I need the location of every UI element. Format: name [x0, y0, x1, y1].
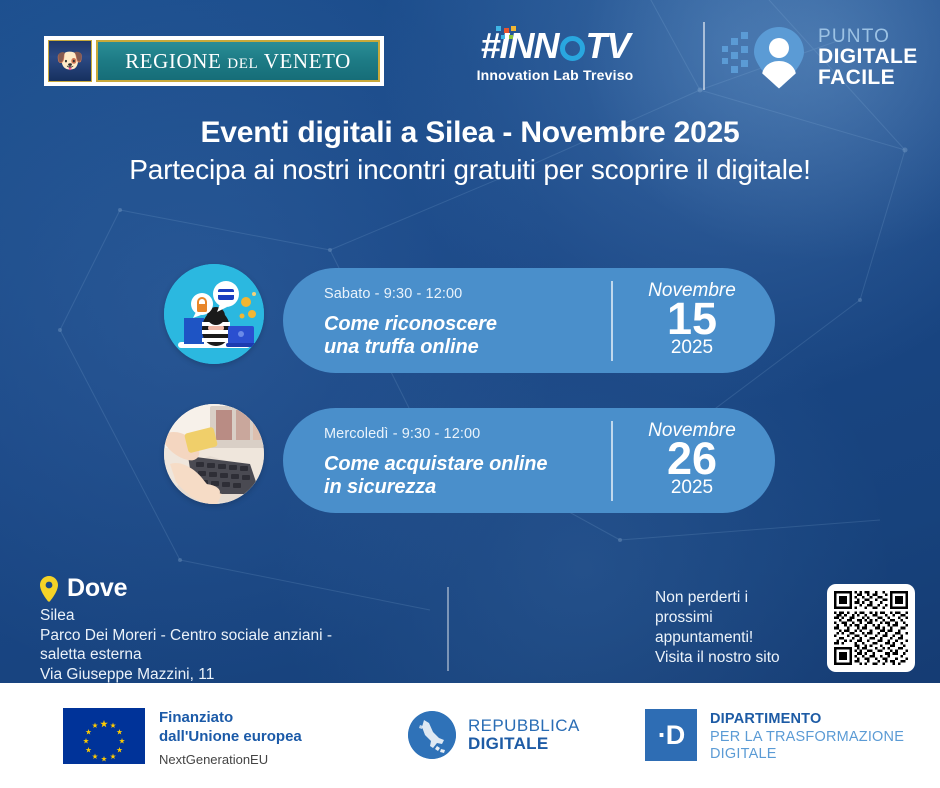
- pdf-line-digitale: DIGITALE: [818, 46, 918, 67]
- dtd-line-2: PER LA TRASFORMAZIONE: [710, 729, 904, 747]
- event-date: Novembre 26 2025: [611, 421, 753, 501]
- location-title: Dove: [67, 574, 127, 603]
- veneto-word-regione: REGIONE: [125, 49, 221, 73]
- qr-code-matrix: [834, 591, 908, 665]
- events-list: Sabato - 9:30 - 12:00 Come riconoscere u…: [0, 263, 940, 528]
- dtd-text: DIPARTIMENTO PER LA TRASFORMAZIONE DIGIT…: [710, 709, 904, 764]
- cta-line: Non perderti i: [655, 588, 805, 608]
- logo-eu-funded: Finanziato dall'Unione europea NextGener…: [63, 708, 302, 768]
- eu-line-3: NextGenerationEU: [159, 751, 302, 769]
- cta-line: appuntamenti!: [655, 628, 805, 648]
- veneto-word-veneto: VENETO: [264, 49, 351, 73]
- pdf-line-punto: PUNTO: [818, 27, 918, 46]
- event-row[interactable]: Sabato - 9:30 - 12:00 Come riconoscere u…: [0, 263, 940, 388]
- event-title-line2: una truffa online: [324, 336, 639, 359]
- location-line: Via Giuseppe Mazzini, 11: [40, 665, 430, 685]
- location-line: Parco Dei Moreri - Centro sociale anzian…: [40, 626, 430, 646]
- repubblica-line-2: DIGITALE: [468, 735, 580, 753]
- veneto-wordmark: REGIONE DEL VENETO: [125, 49, 351, 74]
- cta-block[interactable]: Non perderti i prossimi appuntamenti! Vi…: [655, 584, 915, 672]
- footer-logos: Finanziato dall'Unione europea NextGener…: [0, 683, 940, 788]
- event-date-day: 15: [631, 298, 753, 341]
- punto-digitale-text: PUNTO DIGITALE FACILE: [818, 27, 918, 88]
- event-title-line1: Come acquistare online: [324, 453, 639, 476]
- event-card[interactable]: Mercoledì - 9:30 - 12:00 Come acquistare…: [283, 408, 775, 513]
- event-card[interactable]: Sabato - 9:30 - 12:00 Come riconoscere u…: [283, 268, 775, 373]
- cta-line: prossimi: [655, 608, 805, 628]
- map-pin-icon: [40, 576, 58, 602]
- logo-punto-digitale-facile: PUNTO DIGITALE FACILE: [722, 24, 918, 90]
- dtd-line-3: DIGITALE: [710, 746, 904, 764]
- qr-code-icon[interactable]: [827, 584, 915, 672]
- digital-person-pin-icon: [722, 24, 808, 90]
- event-body: Mercoledì - 9:30 - 12:00 Come acquistare…: [324, 426, 639, 499]
- repubblica-text: REPUBBLICA DIGITALE: [468, 717, 580, 754]
- location-lines: Silea Parco Dei Moreri - Centro sociale …: [40, 606, 430, 685]
- pdf-line-facile: FACILE: [818, 67, 918, 88]
- logo-dipartimento-trasformazione-digitale: ·D DIPARTIMENTO PER LA TRASFORMAZIONE DI…: [645, 709, 904, 764]
- event-title: Come riconoscere una truffa online: [324, 313, 639, 359]
- event-title-line1: Come riconoscere: [324, 313, 639, 336]
- poster-root: 🐶 REGIONE DEL VENETO #INN TV Innovation …: [0, 0, 940, 788]
- event-when: Sabato - 9:30 - 12:00: [324, 286, 639, 302]
- veneto-band: REGIONE DEL VENETO: [96, 40, 380, 82]
- veneto-word-del: DEL: [227, 56, 258, 72]
- eu-line-1: Finanziato: [159, 709, 302, 728]
- bottom-divider: [447, 587, 449, 671]
- online-scam-illustration-icon: [164, 264, 264, 364]
- page-subtitle: Partecipa ai nostri incontri gratuiti pe…: [0, 154, 940, 186]
- event-date: Novembre 15 2025: [611, 281, 753, 361]
- innotv-part-2: TV: [586, 28, 630, 64]
- event-date-year: 2025: [631, 338, 753, 357]
- event-date-year: 2025: [631, 478, 753, 497]
- location-header: Dove: [40, 574, 430, 603]
- event-row[interactable]: Mercoledì - 9:30 - 12:00 Come acquistare…: [0, 403, 940, 528]
- event-when: Mercoledì - 9:30 - 12:00: [324, 426, 639, 442]
- dtd-mark-icon: ·D: [645, 709, 697, 761]
- cta-line: Visita il nostro sito: [655, 648, 805, 668]
- dtd-line-1: DIPARTIMENTO: [710, 711, 904, 729]
- location-line: Silea: [40, 606, 430, 626]
- italy-map-circle-icon: [408, 711, 456, 759]
- logo-regione-del-veneto: 🐶 REGIONE DEL VENETO: [44, 36, 384, 86]
- eu-flag-icon: [63, 708, 145, 764]
- veneto-lion-crest-icon: 🐶: [48, 40, 92, 82]
- eu-line-2: dall'Unione europea: [159, 728, 302, 747]
- event-title-line2: in sicurezza: [324, 476, 639, 499]
- logo-repubblica-digitale: REPUBBLICA DIGITALE: [408, 711, 580, 759]
- online-shopping-photo-icon: [164, 404, 264, 504]
- event-date-day: 26: [631, 438, 753, 481]
- location-line: saletta esterna: [40, 645, 430, 665]
- event-body: Sabato - 9:30 - 12:00 Come riconoscere u…: [324, 286, 639, 359]
- innotv-subtitle: Innovation Lab Treviso: [455, 67, 655, 83]
- poster-titles: Eventi digitali a Silea - Novembre 2025 …: [0, 116, 940, 186]
- header-logos: 🐶 REGIONE DEL VENETO #INN TV Innovation …: [0, 0, 940, 110]
- eu-text: Finanziato dall'Unione europea NextGener…: [159, 708, 302, 768]
- repubblica-line-1: REPUBBLICA: [468, 717, 580, 735]
- location-block: Dove Silea Parco Dei Moreri - Centro soc…: [40, 574, 430, 685]
- innotv-ring-icon: [560, 36, 585, 61]
- header-divider: [703, 22, 705, 90]
- bottom-section: Dove Silea Parco Dei Moreri - Centro soc…: [0, 560, 940, 683]
- innotv-pixels-icon: [468, 26, 528, 44]
- page-title: Eventi digitali a Silea - Novembre 2025: [0, 116, 940, 150]
- event-title: Come acquistare online in sicurezza: [324, 453, 639, 499]
- cta-text: Non perderti i prossimi appuntamenti! Vi…: [655, 588, 805, 669]
